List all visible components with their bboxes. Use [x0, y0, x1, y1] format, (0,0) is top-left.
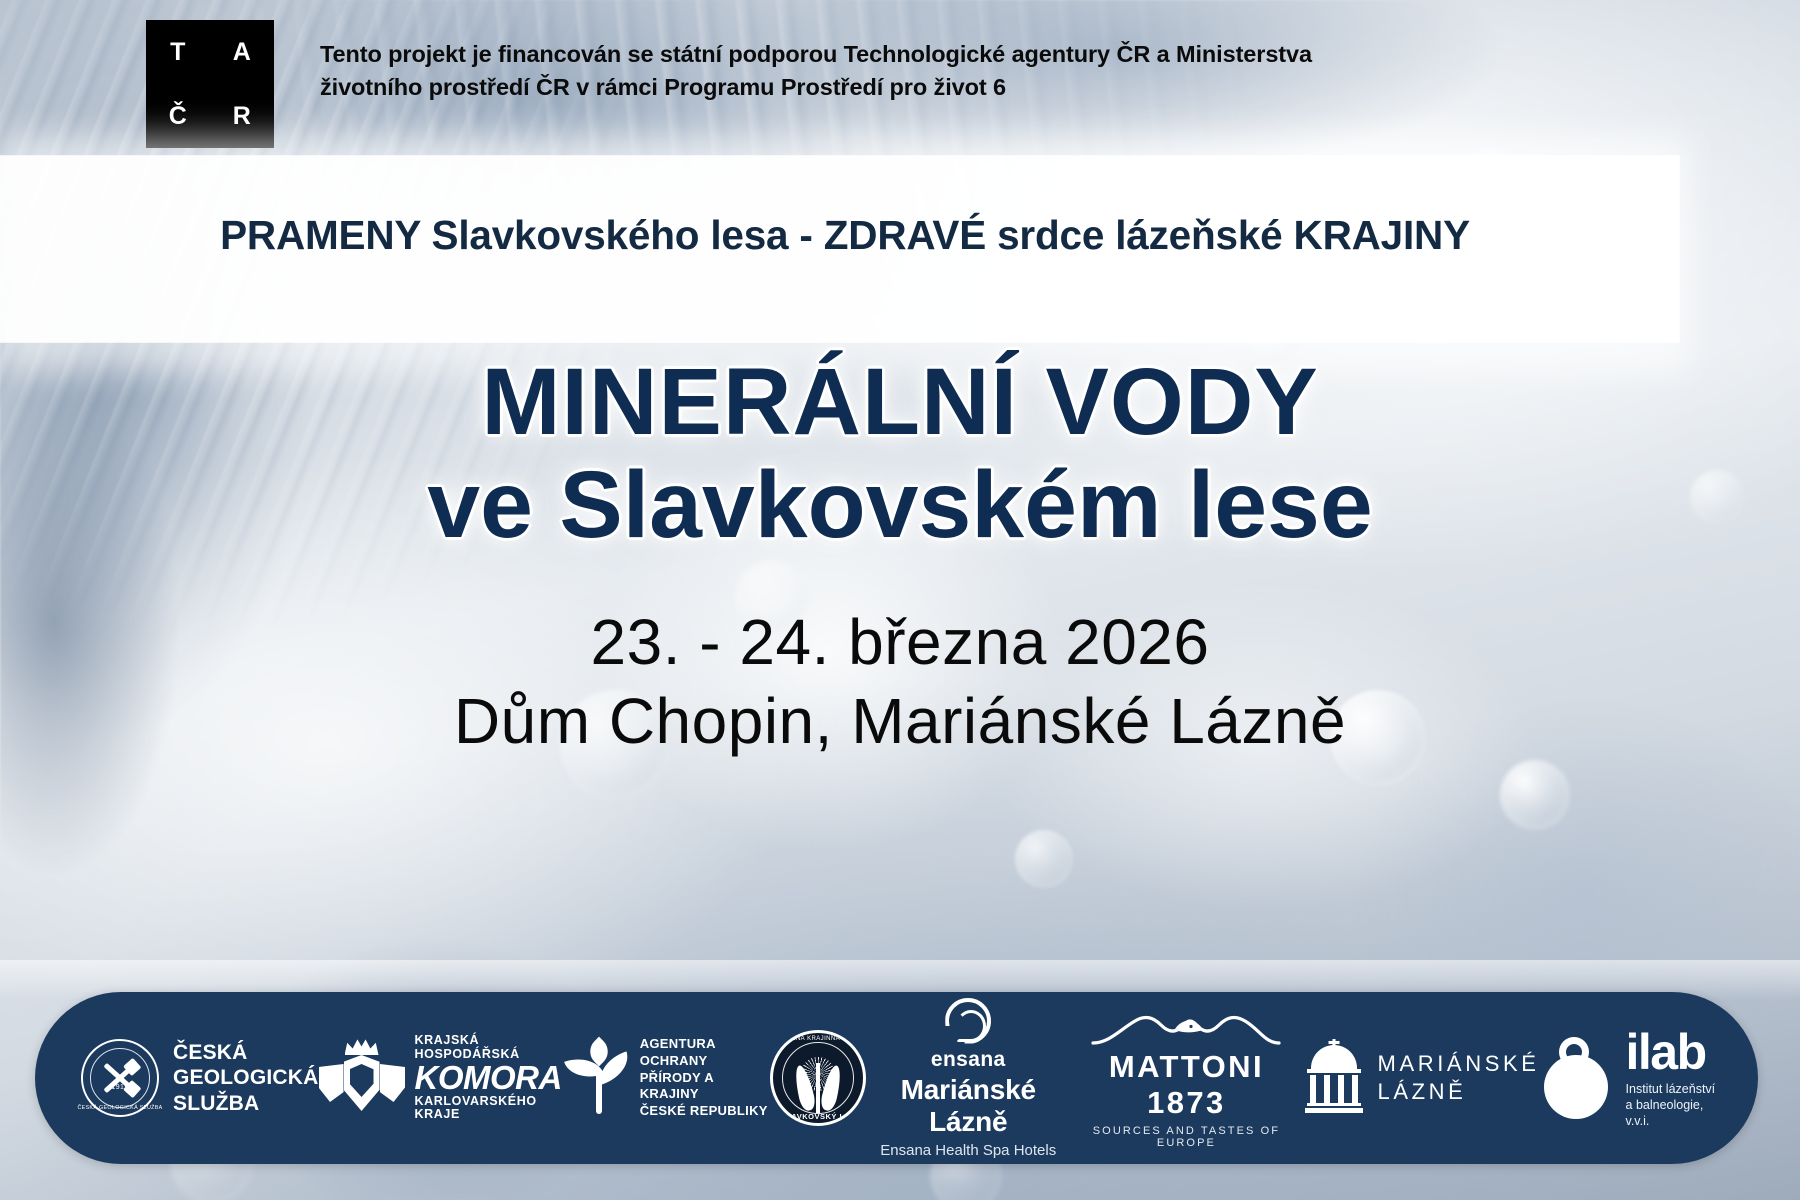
- aopk-wordmark: AGENTURA OCHRANY PŘÍRODY A KRAJINY ČESKÉ…: [640, 1036, 770, 1120]
- bubble-icon: [1015, 830, 1073, 888]
- arnica-flower-seal-icon: CHRÁNĚNÁ KRAJINNÁ OBLAST SLAVKOVSKÝ LES: [770, 1030, 866, 1126]
- page-title: MINERÁLNÍ VODY ve Slavkovském lese: [0, 355, 1800, 553]
- cgs-name-line-2: GEOLOGICKÁ: [173, 1065, 319, 1091]
- ensana-brand: ensana: [866, 1048, 1070, 1072]
- funding-statement: Tento projekt je financován se státní po…: [320, 38, 1480, 105]
- partner-logo-bar: 1919 ČESKÁ GEOLOGICKÁ SLUŽBA ČESKÁ GEOLO…: [35, 992, 1758, 1164]
- cgs-name-line-3: SLUŽBA: [173, 1091, 319, 1117]
- title-line-1: MINERÁLNÍ VODY: [0, 355, 1800, 450]
- title-line-2: ve Slavkovském lese: [0, 458, 1800, 553]
- shield-icon: [344, 1055, 380, 1111]
- cgs-wordmark: ČESKÁ GEOLOGICKÁ SLUŽBA: [173, 1040, 319, 1117]
- logo-ilab[interactable]: ilab Institut lázeňství a balneologie, v…: [1540, 1027, 1716, 1129]
- crown-icon: [345, 1038, 379, 1055]
- khk-line-middle: KOMORA: [415, 1061, 568, 1096]
- logo-chko-slavkovsky-les[interactable]: CHRÁNĚNÁ KRAJINNÁ OBLAST SLAVKOVSKÝ LES: [770, 1030, 866, 1126]
- funding-line-2: životního prostředí ČR v rámci Programu …: [320, 71, 1480, 104]
- crossed-hammers-seal-icon: 1919 ČESKÁ GEOLOGICKÁ SLUŽBA: [81, 1039, 159, 1117]
- cgs-name-line-1: ČESKÁ: [173, 1040, 319, 1066]
- tacr-letter-t: T: [170, 40, 186, 65]
- logo-ensana-marianske-lazne[interactable]: ensana Mariánské Lázně Ensana Health Spa…: [866, 998, 1070, 1159]
- bubble-icon: [1500, 760, 1570, 830]
- event-date: 23. - 24. března 2026: [0, 605, 1800, 679]
- ilab-tagline-line-2: a balneologie, v.v.i.: [1626, 1097, 1716, 1129]
- wing-left-icon: [319, 1064, 344, 1102]
- ensana-spiral-icon: [945, 998, 991, 1044]
- tacr-letter-c: Č: [169, 104, 188, 129]
- funding-line-1: Tento projekt je financován se státní po…: [320, 38, 1480, 71]
- chko-ring-bottom-text: SLAVKOVSKÝ LES: [781, 1112, 856, 1121]
- mattoni-wordmark: MATTONI 1873: [1070, 1049, 1302, 1121]
- aopk-line-1: AGENTURA OCHRANY: [640, 1036, 770, 1070]
- tacr-logo: T A Č R: [146, 20, 274, 148]
- khk-line-bottom: KARLOVARSKÉHO KRAJE: [415, 1095, 568, 1121]
- khk-wordmark: KRAJSKÁ HOSPODÁŘSKÁ KOMORA KARLOVARSKÉHO…: [415, 1034, 568, 1121]
- project-subtitle: PRAMENY Slavkovského lesa - ZDRAVÉ srdce…: [0, 212, 1690, 259]
- crowned-shield-wings-icon: [319, 1038, 405, 1118]
- mattoni-eagle-mountain-icon: [1091, 1007, 1281, 1047]
- marianske-lazne-wordmark: MARIÁNSKÉ LÁZNĚ: [1378, 1050, 1540, 1106]
- logo-krajska-hospodarska-komora[interactable]: KRAJSKÁ HOSPODÁŘSKÁ KOMORA KARLOVARSKÉHO…: [319, 1034, 568, 1121]
- ml-line-2: LÁZNĚ: [1378, 1078, 1540, 1106]
- dome-icon: [1311, 1045, 1357, 1069]
- seal-year: 1919: [111, 1084, 128, 1091]
- wing-right-icon: [380, 1064, 405, 1102]
- aopk-line-2: PŘÍRODY A KRAJINY: [640, 1070, 770, 1104]
- ilab-tagline-line-1: Institut lázeňství: [1626, 1081, 1716, 1097]
- logo-agentura-ochrany-prirody[interactable]: AGENTURA OCHRANY PŘÍRODY A KRAJINY ČESKÉ…: [568, 1036, 770, 1120]
- colonnade-pavilion-icon: [1303, 1039, 1365, 1117]
- tacr-letter-a: A: [233, 40, 252, 65]
- logo-marianske-lazne[interactable]: MARIÁNSKÉ LÁZNĚ: [1303, 1039, 1540, 1117]
- seal-ring-text: ČESKÁ GEOLOGICKÁ SLUŽBA: [77, 1105, 162, 1111]
- ilab-figure-icon: [1540, 1035, 1614, 1121]
- ilab-brand: ilab: [1626, 1027, 1716, 1077]
- tacr-letter-r: R: [233, 104, 252, 129]
- flower-stalk-icon: [816, 1063, 820, 1113]
- event-venue: Dům Chopin, Mariánské Lázně: [0, 684, 1800, 758]
- ensana-tagline: Ensana Health Spa Hotels: [866, 1142, 1070, 1159]
- ilab-head-icon: [1559, 1037, 1589, 1067]
- aopk-line-3: ČESKÉ REPUBLIKY: [640, 1103, 770, 1120]
- ilab-wordmark: ilab Institut lázeňství a balneologie, v…: [1626, 1027, 1716, 1129]
- ensana-city: Mariánské Lázně: [866, 1074, 1070, 1138]
- stem-icon: [596, 1074, 602, 1114]
- ml-line-1: MARIÁNSKÉ: [1378, 1050, 1540, 1078]
- khk-line-top: KRAJSKÁ HOSPODÁŘSKÁ: [415, 1034, 568, 1060]
- columns-icon: [1310, 1075, 1358, 1105]
- chko-ring-top-text: CHRÁNĚNÁ KRAJINNÁ OBLAST: [770, 1036, 866, 1042]
- logo-ceska-geologicka-sluzba[interactable]: 1919 ČESKÁ GEOLOGICKÁ SLUŽBA ČESKÁ GEOLO…: [81, 1039, 319, 1117]
- mattoni-tagline: SOURCES AND TASTES OF EUROPE: [1070, 1125, 1302, 1149]
- architrave-icon: [1307, 1069, 1361, 1073]
- logo-mattoni-1873[interactable]: MATTONI 1873 SOURCES AND TASTES OF EUROP…: [1070, 1007, 1302, 1149]
- base-icon: [1305, 1108, 1363, 1113]
- leaf-plant-icon: [568, 1040, 630, 1116]
- poster-canvas: T A Č R Tento projekt je financován se s…: [0, 0, 1800, 1200]
- ilab-tagline: Institut lázeňství a balneologie, v.v.i.: [1626, 1081, 1716, 1129]
